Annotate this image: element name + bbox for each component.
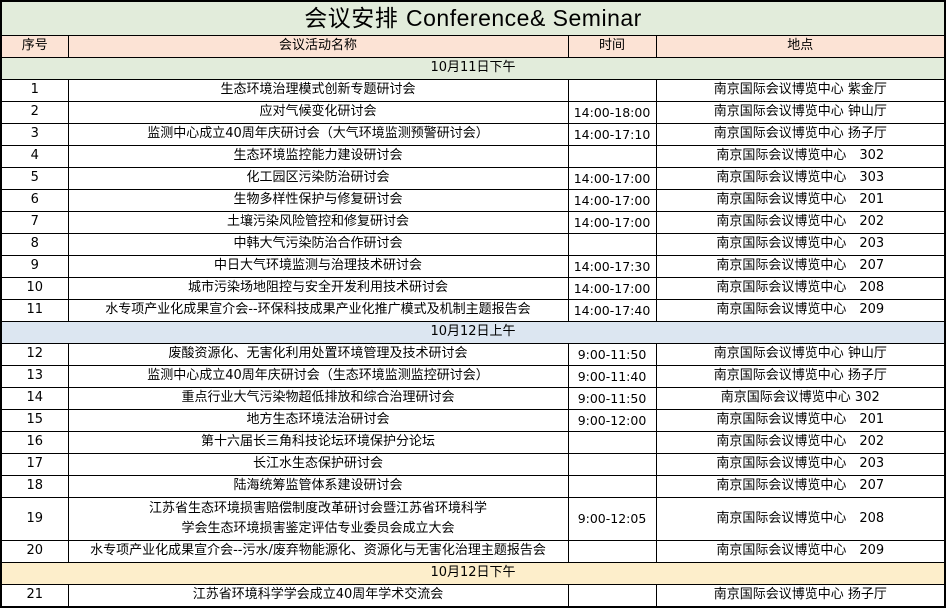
event-time: 14:00-17:00 [568, 278, 656, 300]
event-time: 14:00-17:00 [568, 168, 656, 190]
table-row: 1生态环境治理模式创新专题研讨会南京国际会议博览中心 紫金厅 [1, 80, 945, 102]
event-name: 第十六届长三角科技论坛环境保护分论坛 [68, 432, 568, 454]
table-row: 3监测中心成立40周年庆研讨会（大气环境监测预警研讨会）14:00-17:10南… [1, 124, 945, 146]
event-name: 长江水生态保护研讨会 [68, 454, 568, 476]
table-row: 13监测中心成立40周年庆研讨会（生态环境监测监控研讨会）9:00-11:40南… [1, 366, 945, 388]
event-place: 南京国际会议博览中心 201 [656, 410, 945, 432]
column-header-row: 序号 会议活动名称 时间 地点 [1, 36, 945, 58]
table-row: 10城市污染场地阻控与安全开发利用技术研讨会14:00-17:00南京国际会议博… [1, 278, 945, 300]
event-place: 南京国际会议博览中心 钟山厅 [656, 344, 945, 366]
column-header-time: 时间 [568, 36, 656, 58]
event-place: 南京国际会议博览中心 203 [656, 234, 945, 256]
event-time: 14:00-18:00 [568, 102, 656, 124]
event-name: 应对气候变化研讨会 [68, 102, 568, 124]
row-index: 15 [1, 410, 68, 432]
event-place: 南京国际会议博览中心 207 [656, 256, 945, 278]
event-time: 14:00-17:00 [568, 190, 656, 212]
event-time [568, 454, 656, 476]
column-header-place: 地点 [656, 36, 945, 58]
schedule-body: 会议安排 Conference& Seminar 序号 会议活动名称 时间 地点… [1, 1, 945, 607]
event-name: 废酸资源化、无害化利用处置环境管理及技术研讨会 [68, 344, 568, 366]
event-name: 土壤污染风险管控和修复研讨会 [68, 212, 568, 234]
event-place: 南京国际会议博览中心 202 [656, 432, 945, 454]
event-place: 南京国际会议博览中心 紫金厅 [656, 80, 945, 102]
event-name: 水专项产业化成果宣介会--污水/废弃物能源化、资源化与无害化治理主题报告会 [68, 541, 568, 563]
event-name: 江苏省环境科学学会成立40周年学术交流会 [68, 585, 568, 608]
table-row: 18陆海统筹监管体系建设研讨会南京国际会议博览中心 207 [1, 476, 945, 498]
table-row: 9中日大气环境监测与治理技术研讨会14:00-17:30南京国际会议博览中心 2… [1, 256, 945, 278]
event-place: 南京国际会议博览中心 207 [656, 476, 945, 498]
event-place: 南京国际会议博览中心 303 [656, 168, 945, 190]
section-label: 10月12日下午 [1, 563, 945, 585]
table-row: 21江苏省环境科学学会成立40周年学术交流会南京国际会议博览中心 扬子厅 [1, 585, 945, 608]
event-time [568, 146, 656, 168]
event-place: 南京国际会议博览中心 扬子厅 [656, 366, 945, 388]
row-index: 21 [1, 585, 68, 608]
event-name-wrapped: 江苏省生态环境损害赔偿制度改革研讨会暨江苏省环境科学学会生态环境损害鉴定评估专业… [71, 499, 566, 539]
page-title-en: Conference& Seminar [406, 5, 642, 31]
table-row: 11水专项产业化成果宣介会--环保科技成果产业化推广模式及机制主题报告会14:0… [1, 300, 945, 322]
event-name: 生物多样性保护与修复研讨会 [68, 190, 568, 212]
schedule-sheet: 会议安排 Conference& Seminar 序号 会议活动名称 时间 地点… [0, 0, 944, 608]
event-time: 9:00-12:00 [568, 410, 656, 432]
row-index: 9 [1, 256, 68, 278]
event-time: 14:00-17:10 [568, 124, 656, 146]
section-header-row: 10月12日下午 [1, 563, 945, 585]
event-name: 水专项产业化成果宣介会--环保科技成果产业化推广模式及机制主题报告会 [68, 300, 568, 322]
table-row: 5化工园区污染防治研讨会14:00-17:00南京国际会议博览中心 303 [1, 168, 945, 190]
event-place: 南京国际会议博览中心 302 [656, 388, 945, 410]
table-row: 16第十六届长三角科技论坛环境保护分论坛南京国际会议博览中心 202 [1, 432, 945, 454]
event-time [568, 234, 656, 256]
row-index: 6 [1, 190, 68, 212]
row-index: 13 [1, 366, 68, 388]
section-label: 10月11日下午 [1, 58, 945, 80]
event-place: 南京国际会议博览中心 209 [656, 541, 945, 563]
row-index: 14 [1, 388, 68, 410]
table-row: 19江苏省生态环境损害赔偿制度改革研讨会暨江苏省环境科学学会生态环境损害鉴定评估… [1, 498, 945, 541]
event-place: 南京国际会议博览中心 208 [656, 498, 945, 541]
event-place: 南京国际会议博览中心 203 [656, 454, 945, 476]
table-row: 6生物多样性保护与修复研讨会14:00-17:00南京国际会议博览中心 201 [1, 190, 945, 212]
event-place: 南京国际会议博览中心 209 [656, 300, 945, 322]
section-header-row: 10月11日下午 [1, 58, 945, 80]
event-place: 南京国际会议博览中心 302 [656, 146, 945, 168]
event-time [568, 541, 656, 563]
page-title-cn: 会议安排 [304, 6, 406, 32]
table-row: 7土壤污染风险管控和修复研讨会14:00-17:00南京国际会议博览中心 202 [1, 212, 945, 234]
section-header-row: 10月12日上午 [1, 322, 945, 344]
event-place: 南京国际会议博览中心 扬子厅 [656, 124, 945, 146]
event-name: 陆海统筹监管体系建设研讨会 [68, 476, 568, 498]
row-index: 2 [1, 102, 68, 124]
event-time: 14:00-17:40 [568, 300, 656, 322]
event-name: 江苏省生态环境损害赔偿制度改革研讨会暨江苏省环境科学学会生态环境损害鉴定评估专业… [68, 498, 568, 541]
row-index: 16 [1, 432, 68, 454]
event-name: 监测中心成立40周年庆研讨会（生态环境监测监控研讨会） [68, 366, 568, 388]
row-index: 19 [1, 498, 68, 541]
event-place: 南京国际会议博览中心 208 [656, 278, 945, 300]
event-name: 生态环境治理模式创新专题研讨会 [68, 80, 568, 102]
event-time [568, 476, 656, 498]
table-row: 15地方生态环境法治研讨会9:00-12:00南京国际会议博览中心 201 [1, 410, 945, 432]
row-index: 20 [1, 541, 68, 563]
event-time [568, 432, 656, 454]
event-name: 城市污染场地阻控与安全开发利用技术研讨会 [68, 278, 568, 300]
row-index: 18 [1, 476, 68, 498]
page-title: 会议安排 Conference& Seminar [1, 1, 945, 36]
event-name: 生态环境监控能力建设研讨会 [68, 146, 568, 168]
table-row: 4生态环境监控能力建设研讨会南京国际会议博览中心 302 [1, 146, 945, 168]
event-place: 南京国际会议博览中心 钟山厅 [656, 102, 945, 124]
event-time [568, 585, 656, 608]
event-time [568, 80, 656, 102]
table-row: 8中韩大气污染防治合作研讨会南京国际会议博览中心 203 [1, 234, 945, 256]
row-index: 12 [1, 344, 68, 366]
row-index: 1 [1, 80, 68, 102]
row-index: 10 [1, 278, 68, 300]
row-index: 8 [1, 234, 68, 256]
table-row: 14重点行业大气污染物超低排放和综合治理研讨会9:00-11:50南京国际会议博… [1, 388, 945, 410]
column-header-name: 会议活动名称 [68, 36, 568, 58]
event-name: 化工园区污染防治研讨会 [68, 168, 568, 190]
title-row: 会议安排 Conference& Seminar [1, 1, 945, 36]
row-index: 4 [1, 146, 68, 168]
column-header-index: 序号 [1, 36, 68, 58]
event-time: 9:00-11:50 [568, 388, 656, 410]
event-place: 南京国际会议博览中心 扬子厅 [656, 585, 945, 608]
event-time: 14:00-17:30 [568, 256, 656, 278]
event-time: 9:00-11:40 [568, 366, 656, 388]
table-row: 17长江水生态保护研讨会南京国际会议博览中心 203 [1, 454, 945, 476]
event-time: 14:00-17:00 [568, 212, 656, 234]
event-time: 9:00-11:50 [568, 344, 656, 366]
event-name: 地方生态环境法治研讨会 [68, 410, 568, 432]
event-place: 南京国际会议博览中心 201 [656, 190, 945, 212]
row-index: 7 [1, 212, 68, 234]
row-index: 11 [1, 300, 68, 322]
section-label: 10月12日上午 [1, 322, 945, 344]
table-row: 20水专项产业化成果宣介会--污水/废弃物能源化、资源化与无害化治理主题报告会南… [1, 541, 945, 563]
conference-schedule-table: 会议安排 Conference& Seminar 序号 会议活动名称 时间 地点… [0, 0, 946, 608]
event-name: 中日大气环境监测与治理技术研讨会 [68, 256, 568, 278]
row-index: 5 [1, 168, 68, 190]
event-name: 中韩大气污染防治合作研讨会 [68, 234, 568, 256]
table-row: 2应对气候变化研讨会14:00-18:00南京国际会议博览中心 钟山厅 [1, 102, 945, 124]
row-index: 3 [1, 124, 68, 146]
event-time: 9:00-12:05 [568, 498, 656, 541]
event-place: 南京国际会议博览中心 202 [656, 212, 945, 234]
row-index: 17 [1, 454, 68, 476]
event-name: 监测中心成立40周年庆研讨会（大气环境监测预警研讨会） [68, 124, 568, 146]
event-name: 重点行业大气污染物超低排放和综合治理研讨会 [68, 388, 568, 410]
table-row: 12废酸资源化、无害化利用处置环境管理及技术研讨会9:00-11:50南京国际会… [1, 344, 945, 366]
